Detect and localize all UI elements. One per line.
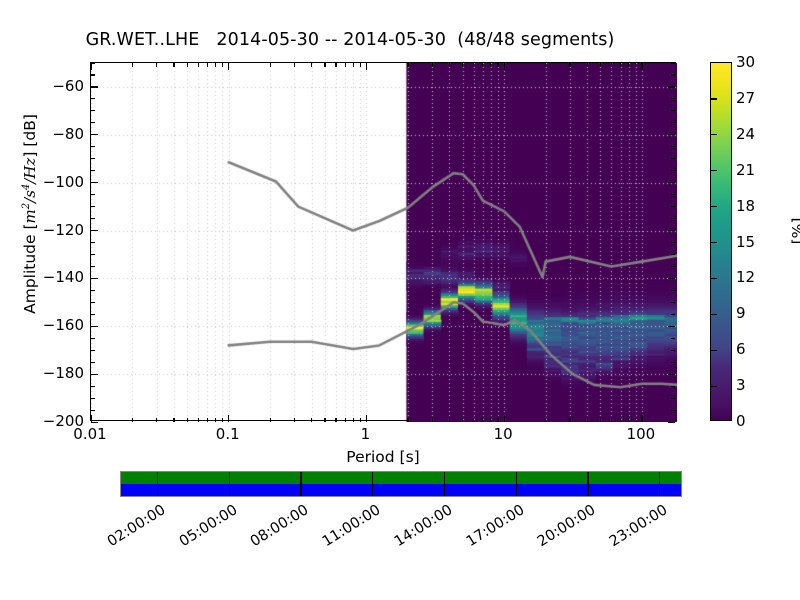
x-tick-major-top [91, 63, 92, 70]
x-tick-major [641, 415, 642, 422]
x-tick-major-top [366, 63, 367, 70]
x-tick-minor [611, 418, 612, 422]
y-tick-minor [91, 146, 95, 147]
y-ticklabel: −100 [38, 173, 84, 191]
x-tick-minor [407, 418, 408, 422]
y-tick-minor-right [671, 63, 675, 64]
y-axis-label-math: m2/s4/Hz [21, 158, 39, 224]
x-tick-minor-top [324, 63, 325, 67]
y-tick-minor-right [671, 242, 675, 243]
time-tick [157, 472, 158, 496]
coverage-band-segments [121, 484, 681, 496]
ppsd-axes [90, 62, 676, 421]
y-tick-minor-right [671, 410, 675, 411]
time-ticklabel: 14:00:00 [382, 502, 455, 556]
x-ticklabel: 0.01 [73, 425, 106, 443]
x-tick-minor [587, 418, 588, 422]
x-tick-minor-top [635, 63, 636, 67]
y-tick-minor-right [671, 386, 675, 387]
y-axis-label-suffix: ] [dB] [21, 114, 39, 158]
x-tick-minor [222, 418, 223, 422]
y-tick-major-right [668, 422, 675, 423]
x-axis-ticklabels: 0.010.1110100 [90, 425, 676, 447]
y-tick-minor-right [671, 218, 675, 219]
x-ticklabel: 1 [361, 425, 371, 443]
x-tick-minor [335, 418, 336, 422]
time-ticklabel: 17:00:00 [454, 502, 527, 556]
x-tick-minor-top [462, 63, 463, 67]
x-tick-minor-top [345, 63, 346, 67]
x-tick-minor [569, 418, 570, 422]
y-tick-minor-right [671, 194, 675, 195]
y-tick-minor [91, 218, 95, 219]
y-tick-minor-right [671, 206, 675, 207]
x-tick-minor-top [132, 63, 133, 67]
colorbar-tick [711, 242, 717, 243]
x-tick-minor [173, 418, 174, 422]
time-tick [444, 472, 445, 496]
y-tick-major-right [668, 182, 675, 183]
colorbar-ticklabel: 21 [736, 161, 755, 179]
y-tick-minor-right [671, 290, 675, 291]
colorbar-ticklabel: 3 [736, 376, 746, 394]
colorbar-ticklabel: 15 [736, 233, 755, 251]
y-axis-label-prefix: Amplitude [ [21, 223, 39, 313]
x-tick-minor-top [490, 63, 491, 67]
x-tick-major [366, 415, 367, 422]
x-tick-minor-top [545, 63, 546, 67]
time-tick [229, 472, 230, 496]
time-ticklabel: 11:00:00 [311, 502, 384, 556]
x-tick-minor [156, 418, 157, 422]
colorbar-ticklabel: 6 [736, 340, 746, 358]
x-tick-major-top [504, 63, 505, 70]
colorbar-tick [711, 206, 717, 207]
x-tick-minor-top [270, 63, 271, 67]
ppsd-heatmap-canvas [91, 63, 677, 422]
x-ticklabel: 0.1 [216, 425, 240, 443]
x-tick-minor-top [294, 63, 295, 67]
x-tick-minor-top [587, 63, 588, 67]
x-axis-label: Period [s] [90, 448, 676, 466]
x-tick-minor-top [482, 63, 483, 67]
x-tick-minor-top [335, 63, 336, 67]
y-tick-major [91, 86, 98, 87]
y-ticklabel: −160 [38, 316, 84, 334]
x-tick-minor [600, 418, 601, 422]
x-tick-minor [198, 418, 199, 422]
y-tick-minor [91, 266, 95, 267]
y-tick-minor [91, 410, 95, 411]
x-ticklabel: 100 [627, 425, 656, 443]
y-tick-minor [91, 350, 95, 351]
x-tick-minor [345, 418, 346, 422]
y-tick-minor [91, 194, 95, 195]
x-tick-minor-top [497, 63, 498, 67]
x-tick-minor-top [569, 63, 570, 67]
colorbar-unit-label: [%] [789, 201, 800, 261]
y-tick-minor [91, 314, 95, 315]
y-tick-minor-right [671, 146, 675, 147]
time-ticklabel: 08:00:00 [239, 502, 312, 556]
x-tick-minor-top [173, 63, 174, 67]
y-tick-minor [91, 398, 95, 399]
y-tick-minor-right [671, 362, 675, 363]
x-tick-minor [490, 418, 491, 422]
x-tick-minor [207, 418, 208, 422]
y-tick-minor-right [671, 302, 675, 303]
y-tick-minor [91, 170, 95, 171]
x-tick-minor-top [187, 63, 188, 67]
colorbar-tick [711, 98, 717, 99]
y-ticklabel: −180 [38, 364, 84, 382]
x-tick-minor [482, 418, 483, 422]
y-ticklabel: −120 [38, 221, 84, 239]
colorbar-tick [711, 350, 717, 351]
colorbar-ticklabels: 036912151821242730 [736, 62, 776, 421]
y-tick-minor-right [671, 350, 675, 351]
colorbar-tick [711, 134, 717, 135]
x-tick-minor-top [473, 63, 474, 67]
x-tick-minor-top [628, 63, 629, 67]
x-tick-minor-top [353, 63, 354, 67]
y-tick-minor-right [671, 158, 675, 159]
x-tick-minor [473, 418, 474, 422]
y-tick-minor [91, 290, 95, 291]
x-tick-minor [628, 418, 629, 422]
y-tick-major [91, 374, 98, 375]
x-tick-minor-top [215, 63, 216, 67]
colorbar-tick [711, 170, 717, 171]
x-tick-minor [432, 418, 433, 422]
y-tick-minor [91, 362, 95, 363]
x-tick-major [504, 415, 505, 422]
x-tick-major-top [228, 63, 229, 70]
y-axis-label: Amplitude [m2/s4/Hz] [dB] [21, 34, 39, 394]
x-tick-minor-top [407, 63, 408, 67]
y-tick-minor-right [671, 254, 675, 255]
colorbar [710, 62, 732, 421]
y-tick-major-right [668, 86, 675, 87]
x-tick-minor [215, 418, 216, 422]
x-tick-minor-top [360, 63, 361, 67]
colorbar-tick [711, 278, 717, 279]
x-tick-minor [187, 418, 188, 422]
x-tick-minor [545, 418, 546, 422]
x-tick-major-top [641, 63, 642, 70]
x-tick-minor [294, 418, 295, 422]
y-tick-minor-right [671, 98, 675, 99]
time-axis-ticklabels: 02:00:0005:00:0008:00:0011:00:0014:00:00… [0, 498, 800, 568]
y-tick-major-right [668, 374, 675, 375]
y-tick-minor-right [671, 266, 675, 267]
y-ticklabel: −140 [38, 268, 84, 286]
y-tick-major [91, 278, 98, 279]
y-tick-minor [91, 110, 95, 111]
x-tick-minor-top [222, 63, 223, 67]
x-tick-minor [360, 418, 361, 422]
x-tick-minor-top [198, 63, 199, 67]
y-tick-minor-right [671, 314, 675, 315]
x-tick-minor-top [620, 63, 621, 67]
y-tick-minor [91, 242, 95, 243]
x-tick-minor-top [432, 63, 433, 67]
y-tick-minor-right [671, 398, 675, 399]
x-tick-minor [270, 418, 271, 422]
y-tick-minor [91, 206, 95, 207]
coverage-band-data [121, 472, 681, 484]
x-tick-minor-top [311, 63, 312, 67]
x-tick-minor-top [207, 63, 208, 67]
y-tick-major-right [668, 134, 675, 135]
y-tick-major [91, 326, 98, 327]
time-ticklabel: 20:00:00 [526, 502, 599, 556]
y-tick-minor [91, 158, 95, 159]
x-tick-minor [132, 418, 133, 422]
colorbar-ticklabel: 27 [736, 89, 755, 107]
x-tick-minor-top [156, 63, 157, 67]
y-tick-major [91, 182, 98, 183]
x-tick-minor-top [449, 63, 450, 67]
y-tick-major [91, 230, 98, 231]
time-ticklabel: 02:00:00 [95, 502, 168, 556]
y-tick-major [91, 134, 98, 135]
time-tick [300, 472, 301, 496]
y-tick-minor [91, 338, 95, 339]
x-tick-minor [635, 418, 636, 422]
x-tick-minor [449, 418, 450, 422]
y-ticklabel: −60 [38, 77, 84, 95]
y-tick-major-right [668, 230, 675, 231]
colorbar-ticklabel: 18 [736, 197, 755, 215]
y-tick-minor-right [671, 170, 675, 171]
time-tick [372, 472, 373, 496]
x-tick-minor [324, 418, 325, 422]
time-tick [516, 472, 517, 496]
colorbar-ticklabel: 0 [736, 412, 746, 430]
x-ticklabel: 10 [494, 425, 513, 443]
colorbar-ticklabel: 12 [736, 268, 755, 286]
time-tick [587, 472, 588, 496]
time-coverage-bar [120, 471, 682, 497]
x-tick-minor [497, 418, 498, 422]
y-tick-minor [91, 74, 95, 75]
x-tick-minor [462, 418, 463, 422]
time-ticklabel: 23:00:00 [598, 502, 671, 556]
colorbar-ticklabel: 24 [736, 125, 755, 143]
colorbar-tick [711, 386, 717, 387]
x-tick-minor [620, 418, 621, 422]
y-tick-minor-right [671, 74, 675, 75]
time-tick [659, 472, 660, 496]
x-tick-minor-top [600, 63, 601, 67]
y-tick-major [91, 422, 98, 423]
y-tick-minor [91, 386, 95, 387]
y-tick-minor-right [671, 110, 675, 111]
y-ticklabel: −80 [38, 125, 84, 143]
colorbar-ticklabel: 30 [736, 53, 755, 71]
y-tick-minor-right [671, 338, 675, 339]
time-ticklabel: 05:00:00 [167, 502, 240, 556]
colorbar-ticklabel: 9 [736, 304, 746, 322]
colorbar-tick [711, 314, 717, 315]
x-tick-minor [353, 418, 354, 422]
y-tick-major-right [668, 278, 675, 279]
y-tick-minor [91, 302, 95, 303]
y-tick-minor [91, 63, 95, 64]
ppsd-figure: GR.WET..LHE 2014-05-30 -- 2014-05-30 (48… [0, 0, 800, 600]
y-tick-minor [91, 254, 95, 255]
y-tick-major-right [668, 326, 675, 327]
x-tick-major [228, 415, 229, 422]
y-tick-minor [91, 122, 95, 123]
x-tick-minor [311, 418, 312, 422]
plot-title: GR.WET..LHE 2014-05-30 -- 2014-05-30 (48… [0, 30, 700, 50]
y-tick-minor-right [671, 122, 675, 123]
x-tick-minor-top [611, 63, 612, 67]
y-tick-minor [91, 98, 95, 99]
